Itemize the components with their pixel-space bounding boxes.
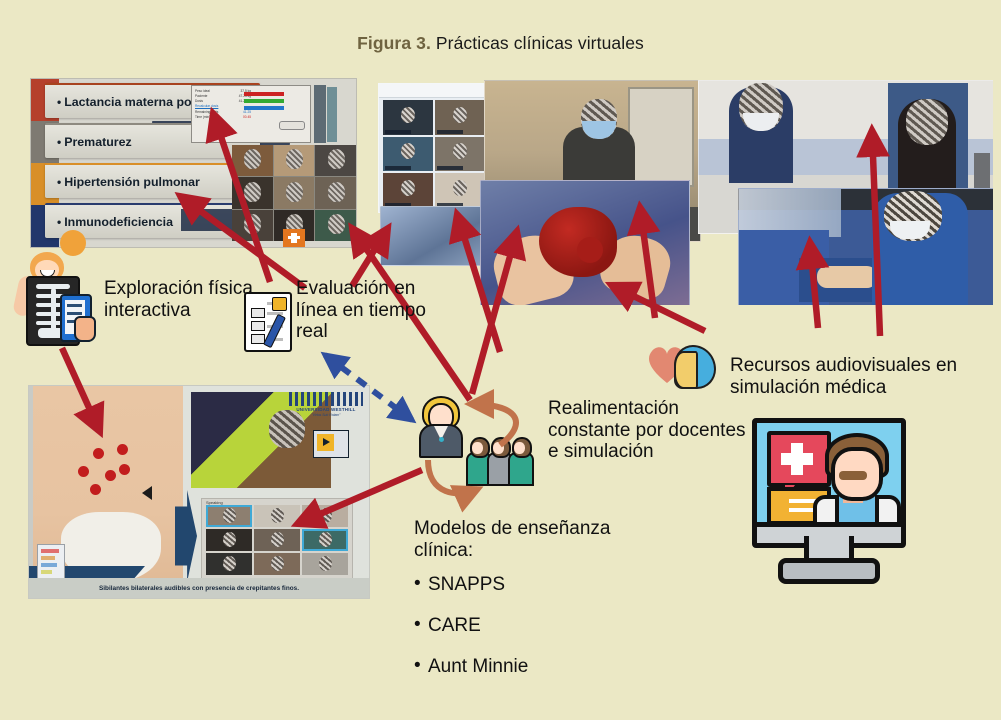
woman-body	[419, 424, 463, 458]
photo-blue-surgical-drape	[380, 206, 490, 266]
auscultation-point[interactable]	[105, 470, 116, 481]
conference-grid-panel: Speaking	[201, 498, 353, 580]
dosage-dialog: Peso ideal37.5 kg Paciente47.25 kg Dosis…	[191, 85, 311, 143]
color-bars-graphic	[244, 92, 284, 113]
page-title: Figura 3. Prácticas clínicas virtuales	[0, 33, 1001, 54]
teacher-face	[472, 442, 483, 454]
cross-horizontal	[781, 453, 813, 465]
teacher-face	[493, 442, 504, 454]
speaker-icon	[142, 486, 152, 500]
logo-columns	[289, 392, 363, 406]
video-tile	[232, 210, 273, 241]
conference-tile	[435, 100, 485, 135]
conference-tile[interactable]	[302, 553, 348, 575]
window-titlebar	[379, 84, 489, 98]
conference-tile[interactable]	[302, 505, 348, 527]
conference-tile[interactable]	[206, 529, 252, 551]
figure-title-text: Prácticas clínicas virtuales	[431, 33, 644, 53]
conference-tile[interactable]	[206, 505, 252, 527]
vitals-line-orange	[41, 556, 55, 560]
teacher-figure	[508, 452, 534, 486]
conference-tile[interactable]	[206, 553, 252, 575]
stamp-badge	[272, 297, 287, 311]
auscultation-point[interactable]	[90, 484, 101, 495]
bullet-dot: •	[57, 95, 61, 109]
photo-heart-model-in-hands	[480, 180, 690, 305]
vitals-line-blue	[41, 563, 57, 567]
heart-model	[539, 207, 617, 277]
face-profile	[674, 351, 698, 389]
figure-canvas: Figura 3. Prácticas clínicas virtuales •…	[0, 0, 1001, 720]
cabinet	[628, 87, 694, 187]
play-button[interactable]	[317, 434, 334, 451]
auscultation-point[interactable]	[119, 464, 130, 475]
conference-tile[interactable]	[302, 529, 348, 551]
vitals-line-yellow	[41, 570, 52, 574]
bar-green	[244, 99, 284, 103]
university-logo: UNIVERSIDAD WESTHILL "Virtus Sub Rotam"	[289, 392, 363, 418]
brooch	[439, 437, 444, 442]
checkbox	[251, 321, 265, 331]
xray-interactive-icon	[12, 252, 98, 356]
surgeon-mask	[890, 221, 930, 239]
photo-surgeon-operating	[738, 188, 993, 305]
university-motto: "Virtus Sub Rotam"	[289, 413, 363, 417]
simulation-screenshot-bottomleft: UNIVERSIDAD WESTHILL "Virtus Sub Rotam" …	[28, 385, 370, 599]
nurse-figure	[729, 87, 793, 183]
modelos-item: Aunt Minnie	[428, 656, 644, 678]
student-woman-icon	[418, 396, 460, 454]
teachers-group-icon	[466, 440, 530, 486]
screen-line	[67, 312, 82, 315]
vitals-line-red	[41, 549, 59, 553]
auscultation-point[interactable]	[78, 466, 89, 477]
modelos-item: SNAPPS	[428, 574, 644, 596]
conference-tile[interactable]	[254, 553, 300, 575]
conference-tile	[435, 173, 485, 208]
slide-bullet-text: Prematurez	[64, 135, 132, 149]
slide-bullet-text: Hipertensión pulmonar	[64, 175, 200, 189]
video-tile	[315, 145, 356, 176]
simulation-caption: Sibilantes bilaterales audibles con pres…	[29, 578, 369, 598]
draw-full-button[interactable]	[279, 121, 305, 130]
head-profile	[674, 345, 716, 389]
video-tile	[232, 145, 273, 176]
bar-red	[244, 92, 284, 96]
figure-label: Figura 3.	[357, 33, 431, 53]
surgeon-figure	[872, 193, 968, 305]
patient-head	[906, 99, 948, 145]
modelos-item: CARE	[428, 615, 644, 637]
auscultation-point[interactable]	[117, 444, 128, 455]
dialog-time-value: 00.45	[243, 115, 251, 120]
bullet-dot: •	[57, 215, 61, 229]
telemedicine-monitor-icon	[744, 418, 904, 583]
conference-tile	[435, 137, 485, 172]
video-tile	[274, 177, 315, 208]
dialog-row: Time (min)00.45	[195, 115, 251, 120]
teacher-face	[514, 442, 525, 454]
auscultation-point[interactable]	[93, 448, 104, 459]
video-tile	[315, 210, 356, 241]
monitor-screen	[752, 418, 906, 536]
label-recursos-audiovisuales: Recursos audiovisuales en simulación méd…	[730, 355, 1000, 398]
photo-video-conference-grid	[378, 83, 490, 213]
conference-tile	[383, 100, 433, 135]
doctor-moustache	[839, 471, 867, 480]
modelos-header: Modelos de enseñanza clínica:	[414, 518, 644, 561]
video-tile	[315, 177, 356, 208]
label-realimentacion: Realimentación constante por docentes e …	[548, 398, 748, 463]
monitor-foot	[778, 558, 880, 584]
video-tile	[232, 177, 273, 208]
conference-tiles	[383, 100, 485, 208]
conference-tile[interactable]	[254, 529, 300, 551]
slide-bullet-item: •Hipertensión pulmonar	[45, 163, 260, 198]
video-tile	[274, 145, 315, 176]
pointing-hand-cursor-icon	[74, 316, 96, 342]
conference-tile	[383, 137, 433, 172]
first-aid-kit-icon	[283, 229, 305, 247]
dialog-time-label: Time (min)	[195, 115, 210, 120]
heart-brain-simulation-icon	[646, 340, 712, 390]
bar-blue	[244, 106, 284, 110]
label-evaluacion-en-linea: Evaluación en línea en tiempo real	[296, 278, 426, 343]
conference-tile[interactable]	[254, 505, 300, 527]
bullet-dot: •	[57, 135, 61, 149]
teal-panel-graphic	[327, 87, 337, 142]
slide-bullet-text: Inmunodeficiencia	[64, 215, 173, 229]
label-modelos-ensenanza: Modelos de enseñanza clínica: SNAPPS CAR…	[414, 518, 644, 696]
video-conference-grid	[232, 145, 356, 241]
university-name: UNIVERSIDAD WESTHILL	[289, 407, 363, 412]
vitals-monitor-icon	[37, 544, 65, 580]
doctor-avatar	[815, 433, 891, 529]
bullet-dot: •	[57, 175, 61, 189]
modelos-list: SNAPPS CARE Aunt Minnie	[414, 574, 644, 677]
nurse-mask	[743, 113, 779, 131]
slide-screenshot-topleft: •Lactancia materna por •Prematurez •Hipe…	[30, 78, 357, 248]
label-exploracion-fisica: Exploración física interactiva	[104, 278, 254, 321]
conference-tile	[383, 173, 433, 208]
photo-collage-topright	[378, 80, 993, 305]
conference-tiles	[206, 505, 348, 575]
syringe-graphic	[314, 85, 326, 143]
cross-bar	[288, 236, 300, 239]
slide-bullet-text: Lactancia materna por	[64, 95, 196, 109]
screen-line	[67, 304, 82, 307]
video-play-icon[interactable]	[313, 430, 349, 458]
